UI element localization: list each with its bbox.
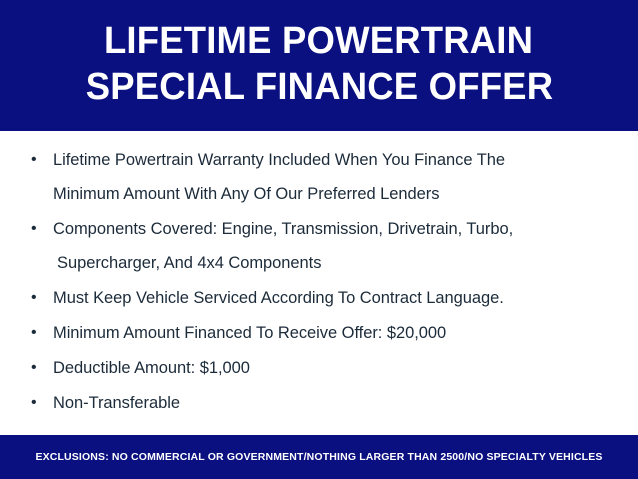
bullet-point-icon: • (31, 143, 43, 177)
exclusions-text: EXCLUSIONS: NO COMMERCIAL OR GOVERNMENT/… (35, 450, 602, 464)
bullet-text-line-2: Supercharger, And 4x4 Components (53, 246, 618, 280)
list-item: • Components Covered: Engine, Transmissi… (20, 212, 618, 280)
list-item: • Lifetime Powertrain Warranty Included … (20, 143, 618, 211)
offer-slide: LIFETIME POWERTRAIN SPECIAL FINANCE OFFE… (0, 0, 638, 479)
bullet-point-icon: • (31, 386, 43, 420)
title-line-1: LIFETIME POWERTRAIN (104, 18, 533, 64)
exclusions-banner: EXCLUSIONS: NO COMMERCIAL OR GOVERNMENT/… (0, 435, 638, 479)
bullet-text-line-1: Non-Transferable (53, 386, 618, 420)
bullet-point-icon: • (31, 212, 43, 246)
bullet-text-line-1: Deductible Amount: $1,000 (53, 351, 618, 385)
bullet-point-icon: • (31, 281, 43, 315)
bullet-point-icon: • (31, 316, 43, 350)
bullet-text-line-1: Lifetime Powertrain Warranty Included Wh… (53, 143, 618, 177)
title-line-2: SPECIAL FINANCE OFFER (85, 64, 553, 110)
header-banner: LIFETIME POWERTRAIN SPECIAL FINANCE OFFE… (0, 0, 638, 131)
offer-details-body: • Lifetime Powertrain Warranty Included … (0, 131, 638, 435)
list-item: • Minimum Amount Financed To Receive Off… (20, 316, 618, 350)
list-item: • Must Keep Vehicle Serviced According T… (20, 281, 618, 315)
bullet-point-icon: • (31, 351, 43, 385)
list-item: • Deductible Amount: $1,000 (20, 351, 618, 385)
list-item: • Non-Transferable (20, 386, 618, 420)
offer-bullet-list: • Lifetime Powertrain Warranty Included … (20, 143, 618, 420)
bullet-text-line-2: Minimum Amount With Any Of Our Preferred… (53, 177, 618, 211)
bullet-text-line-1: Minimum Amount Financed To Receive Offer… (53, 316, 618, 350)
bullet-text-line-1: Must Keep Vehicle Serviced According To … (53, 281, 618, 315)
bullet-text-line-1: Components Covered: Engine, Transmission… (53, 212, 618, 246)
